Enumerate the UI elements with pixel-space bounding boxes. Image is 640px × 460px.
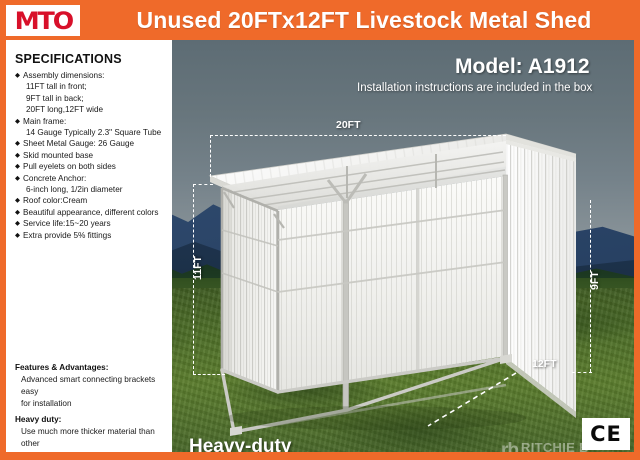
watermark-name: RITCHIE B [521,441,589,453]
spec-item: ◆Beautiful appearance, different colors [15,207,166,218]
spec-item-label: Assembly dimensions: [23,70,104,81]
diamond-bullet-icon: ◆ [15,116,20,127]
heavy-duty-lines: Use much more thicker material than othe… [15,426,173,452]
heavy-duty-heading: Heavy duty: [15,414,173,426]
spec-item-subline: 14 Gauge Typically 2.3" Square Tube [26,127,166,138]
spec-item-subline: 20FT long,12FT wide [26,104,166,115]
spec-item-label: Pull eyelets on both sides [23,161,116,172]
install-note: Installation instructions are included i… [357,82,592,94]
ce-mark-text: CE [590,422,622,446]
diamond-bullet-icon: ◆ [15,138,20,149]
diamond-bullet-icon: ◆ [15,173,20,184]
diamond-bullet-icon: ◆ [15,161,20,172]
heavy-duty-line: Use much more thicker material than othe… [21,426,173,450]
spec-item: ◆Concrete Anchor: [15,173,166,184]
spec-item-label: Concrete Anchor: [23,173,86,184]
page-title: Unused 20FTx12FT Livestock Metal Shed [90,0,638,40]
specifications-list: ◆Assembly dimensions:11FT tall in front;… [15,70,166,241]
heavy-duty-line: competitors at the site [21,450,173,452]
spec-item: ◆Main frame: [15,116,166,127]
ce-mark-badge: CE [582,418,630,450]
spec-item: ◆Sheet Metal Gauge: 26 Gauge [15,138,166,149]
diamond-bullet-icon: ◆ [15,150,20,161]
spec-item-label: Main frame: [23,116,66,127]
spec-item: ◆Extra provide 5% fittings [15,230,166,241]
spec-item-label: Extra provide 5% fittings [23,230,111,241]
diamond-bullet-icon: ◆ [15,70,20,81]
spec-item: ◆Service life:15~20 years [15,218,166,229]
brand-logo-text: MTO [14,9,71,33]
dimension-label-width: 12FT [532,358,557,370]
spec-item: ◆Pull eyelets on both sides [15,161,166,172]
diamond-bullet-icon: ◆ [15,218,20,229]
specifications-panel: SPECIFICATIONS ◆Assembly dimensions:11FT… [6,40,172,452]
rb-logo-icon: rb [501,440,518,452]
specifications-heading: SPECIFICATIONS [15,52,166,66]
spec-item-label: Beautiful appearance, different colors [23,207,159,218]
spec-item-label: Sheet Metal Gauge: 26 Gauge [23,138,134,149]
diamond-bullet-icon: ◆ [15,207,20,218]
brand-logo: MTO [6,5,80,36]
header-bar: MTO Unused 20FTx12FT Livestock Metal She… [0,0,640,40]
feature-line: for installation [21,398,173,410]
feature-line: Advanced smart connecting brackets easy [21,374,173,398]
spec-item-label: Roof color:Cream [23,195,87,206]
features-heading: Features & Advantages: [15,362,173,374]
auctioneer-watermark: rb RITCHIE B Auctioneers [501,440,589,452]
spec-item-subline: 11FT tall in front; [26,81,166,92]
spec-item: ◆Roof color:Cream [15,195,166,206]
spec-item: ◆Assembly dimensions: [15,70,166,81]
diamond-bullet-icon: ◆ [15,230,20,241]
features-block: Features & Advantages: Advanced smart co… [15,362,173,452]
heavy-duty-tagline: Heavy-duty [189,436,291,452]
diamond-bullet-icon: ◆ [15,195,20,206]
spec-item-subline: 6-inch long, 1/2in diameter [26,184,166,195]
product-photo: 20FT 11FT 9FT 12FT Model: A1912 Installa… [6,40,634,452]
features-lines: Advanced smart connecting brackets easyf… [15,374,173,410]
product-poster: MTO Unused 20FTx12FT Livestock Metal She… [0,0,640,460]
model-number: Model: A1912 [455,55,590,79]
spec-item-label: Skid mounted base [23,150,93,161]
spec-item: ◆Skid mounted base [15,150,166,161]
spec-item-subline: 9FT tall in back; [26,93,166,104]
spec-item-label: Service life:15~20 years [23,218,111,229]
